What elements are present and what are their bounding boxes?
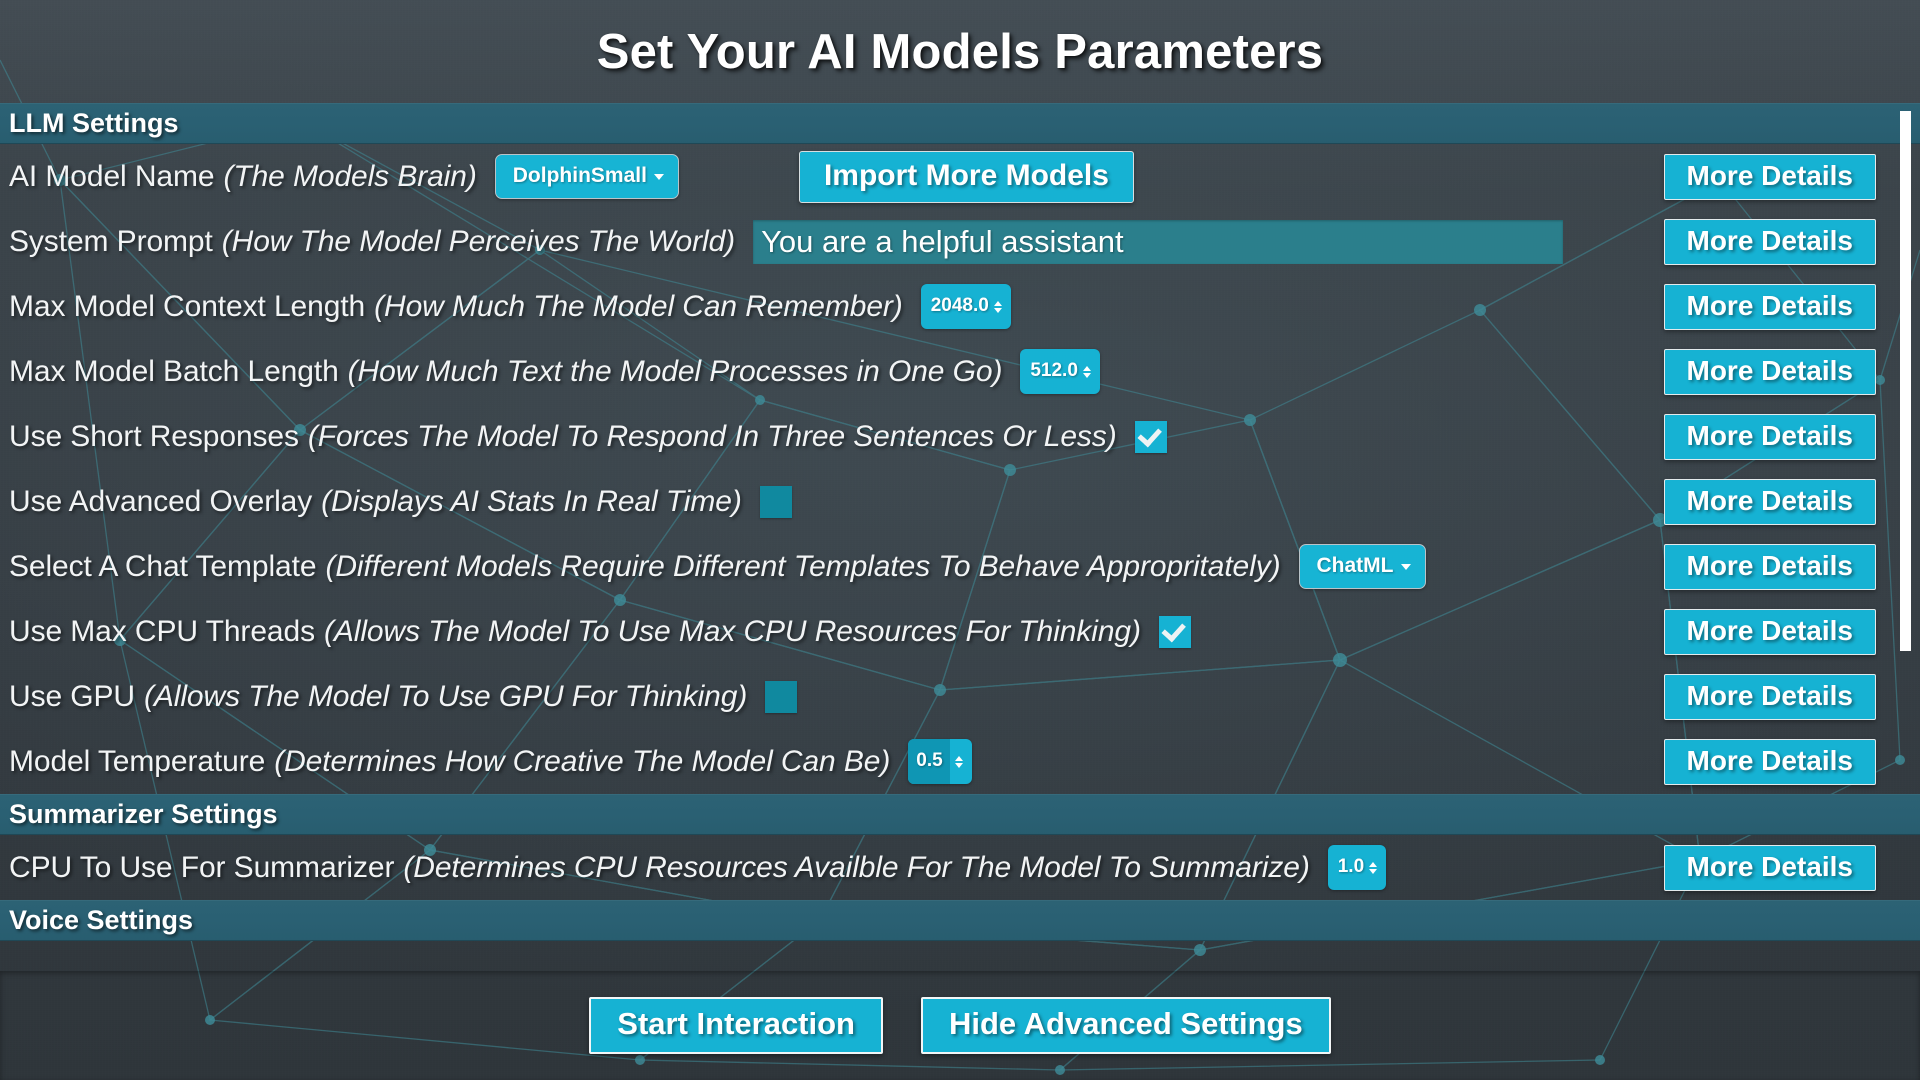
- control-slot: ChatML: [1299, 544, 1426, 589]
- setting-label: Select A Chat Template: [9, 550, 316, 584]
- spinner-value: 0.5: [908, 739, 949, 784]
- setting-hint: (The Models Brain): [223, 160, 476, 194]
- use-short-responses-checkbox[interactable]: [1135, 421, 1167, 453]
- use-advanced-overlay-checkbox[interactable]: [760, 486, 792, 518]
- section-header-label: Summarizer Settings: [0, 799, 278, 830]
- spinner-arrows-icon[interactable]: [991, 301, 1011, 313]
- start-interaction-button[interactable]: Start Interaction: [589, 997, 883, 1054]
- chevron-down-icon: [1401, 564, 1411, 570]
- setting-label: Model Temperature: [9, 745, 265, 779]
- control-slot: [760, 486, 792, 518]
- section-header-llm-settings: LLM Settings: [0, 103, 1920, 144]
- setting-row-use-short-responses: Use Short Responses (Forces The Model To…: [0, 404, 1920, 469]
- use-max-cpu-threads-checkbox[interactable]: [1159, 616, 1191, 648]
- settings-scrollbar-thumb[interactable]: [1900, 111, 1911, 651]
- chevron-down-icon: [654, 174, 664, 180]
- control-slot: [1159, 616, 1191, 648]
- setting-hint: (Different Models Require Different Temp…: [325, 550, 1280, 584]
- spinner-value: 2048.0: [921, 284, 991, 329]
- setting-row-use-gpu: Use GPU (Allows The Model To Use GPU For…: [0, 664, 1920, 729]
- more-details-button-use-advanced-overlay[interactable]: More Details: [1664, 479, 1877, 525]
- setting-hint: (How Much Text the Model Processes in On…: [348, 355, 1003, 389]
- setting-label: Use GPU: [9, 680, 135, 714]
- spinner-value: 1.0: [1328, 845, 1366, 890]
- setting-label: CPU To Use For Summarizer: [9, 851, 394, 885]
- setting-label: Use Max CPU Threads: [9, 615, 315, 649]
- section-header-summarizer-settings: Summarizer Settings: [0, 794, 1920, 835]
- section-header-voice-settings: Voice Settings: [0, 900, 1920, 941]
- more-details-button-system-prompt[interactable]: More Details: [1664, 219, 1877, 265]
- setting-hint: (Allows The Model To Use GPU For Thinkin…: [144, 680, 747, 714]
- check-icon: [1162, 617, 1186, 642]
- more-details-button-cpu-for-summarizer[interactable]: More Details: [1664, 845, 1877, 891]
- setting-row-chat-template: Select A Chat Template (Different Models…: [0, 534, 1920, 599]
- spinner-arrows-icon[interactable]: [950, 756, 972, 768]
- setting-row-use-advanced-overlay: Use Advanced Overlay (Displays AI Stats …: [0, 469, 1920, 534]
- setting-row-system-prompt: System Prompt (How The Model Perceives T…: [0, 209, 1920, 274]
- setting-row-max-batch-length: Max Model Batch Length (How Much Text th…: [0, 339, 1920, 404]
- more-details-button-max-context-length[interactable]: More Details: [1664, 284, 1877, 330]
- setting-label: Use Short Responses: [9, 420, 299, 454]
- section-header-label: LLM Settings: [0, 108, 179, 139]
- setting-row-cpu-for-summarizer: CPU To Use For Summarizer (Determines CP…: [0, 835, 1920, 900]
- setting-hint: (Forces The Model To Respond In Three Se…: [308, 420, 1117, 454]
- cpu-for-summarizer-spinner[interactable]: 1.0: [1328, 845, 1386, 890]
- more-details-button-use-gpu[interactable]: More Details: [1664, 674, 1877, 720]
- more-details-button-use-max-cpu-threads[interactable]: More Details: [1664, 609, 1877, 655]
- spinner-arrows-icon[interactable]: [1080, 366, 1100, 378]
- more-details-button-model-temperature[interactable]: More Details: [1664, 739, 1877, 785]
- chat-template-dropdown[interactable]: ChatML: [1299, 544, 1426, 589]
- more-details-button-chat-template[interactable]: More Details: [1664, 544, 1877, 590]
- setting-row-use-max-cpu-threads: Use Max CPU Threads (Allows The Model To…: [0, 599, 1920, 664]
- check-icon: [1138, 422, 1162, 447]
- setting-label: System Prompt: [9, 225, 213, 259]
- settings-scrollbar-track[interactable]: [1899, 103, 1912, 971]
- setting-row-max-context-length: Max Model Context Length (How Much The M…: [0, 274, 1920, 339]
- control-slot: [753, 220, 1563, 264]
- hide-advanced-settings-button[interactable]: Hide Advanced Settings: [921, 997, 1331, 1054]
- setting-label: Max Model Context Length: [9, 290, 365, 324]
- control-slot: 2048.0: [921, 284, 1011, 329]
- control-slot: 1.0: [1328, 845, 1386, 890]
- control-slot: 0.5: [908, 739, 971, 784]
- setting-hint: (How The Model Perceives The World): [222, 225, 735, 259]
- section-header-label: Voice Settings: [0, 905, 193, 936]
- setting-label: Use Advanced Overlay: [9, 485, 312, 519]
- control-slot: DolphinSmall: [495, 154, 679, 199]
- setting-hint: (Determines CPU Resources Availble For T…: [403, 851, 1309, 885]
- setting-hint: (Determines How Creative The Model Can B…: [274, 745, 890, 779]
- app-window: Set Your AI Models Parameters LLM Settin…: [0, 0, 1920, 1080]
- system-prompt-input[interactable]: [753, 220, 1563, 264]
- setting-label: Max Model Batch Length: [9, 355, 339, 389]
- setting-label: AI Model Name: [9, 160, 214, 194]
- setting-row-ai-model-name: AI Model Name (The Models Brain) Dolphin…: [0, 144, 1920, 209]
- control-slot: [765, 681, 797, 713]
- bottom-action-bar: Start Interaction Hide Advanced Settings: [0, 971, 1920, 1080]
- model-temperature-spinner[interactable]: 0.5: [908, 739, 971, 784]
- more-details-button-max-batch-length[interactable]: More Details: [1664, 349, 1877, 395]
- settings-scroll-region[interactable]: LLM Settings AI Model Name (The Models B…: [0, 103, 1920, 971]
- model-name-dropdown[interactable]: DolphinSmall: [495, 154, 679, 199]
- dropdown-value: DolphinSmall: [513, 164, 647, 188]
- control-slot: [1135, 421, 1167, 453]
- spinner-arrows-icon[interactable]: [1366, 862, 1386, 874]
- max-context-length-spinner[interactable]: 2048.0: [921, 284, 1011, 329]
- control-slot: 512.0: [1020, 349, 1100, 394]
- setting-row-model-temperature: Model Temperature (Determines How Creati…: [0, 729, 1920, 794]
- import-more-models-button[interactable]: Import More Models: [799, 151, 1134, 203]
- page-title: Set Your AI Models Parameters: [597, 24, 1324, 80]
- setting-hint: (How Much The Model Can Remember): [374, 290, 903, 324]
- dropdown-value: ChatML: [1317, 554, 1394, 578]
- more-details-button-use-short-responses[interactable]: More Details: [1664, 414, 1877, 460]
- setting-hint: (Allows The Model To Use Max CPU Resourc…: [324, 615, 1141, 649]
- max-batch-length-spinner[interactable]: 512.0: [1020, 349, 1100, 394]
- page-title-bar: Set Your AI Models Parameters: [0, 0, 1920, 103]
- more-details-button-ai-model-name[interactable]: More Details: [1664, 154, 1877, 200]
- use-gpu-checkbox[interactable]: [765, 681, 797, 713]
- setting-hint: (Displays AI Stats In Real Time): [321, 485, 742, 519]
- spinner-value: 512.0: [1020, 349, 1080, 394]
- control-slot-import: Import More Models: [799, 151, 1134, 203]
